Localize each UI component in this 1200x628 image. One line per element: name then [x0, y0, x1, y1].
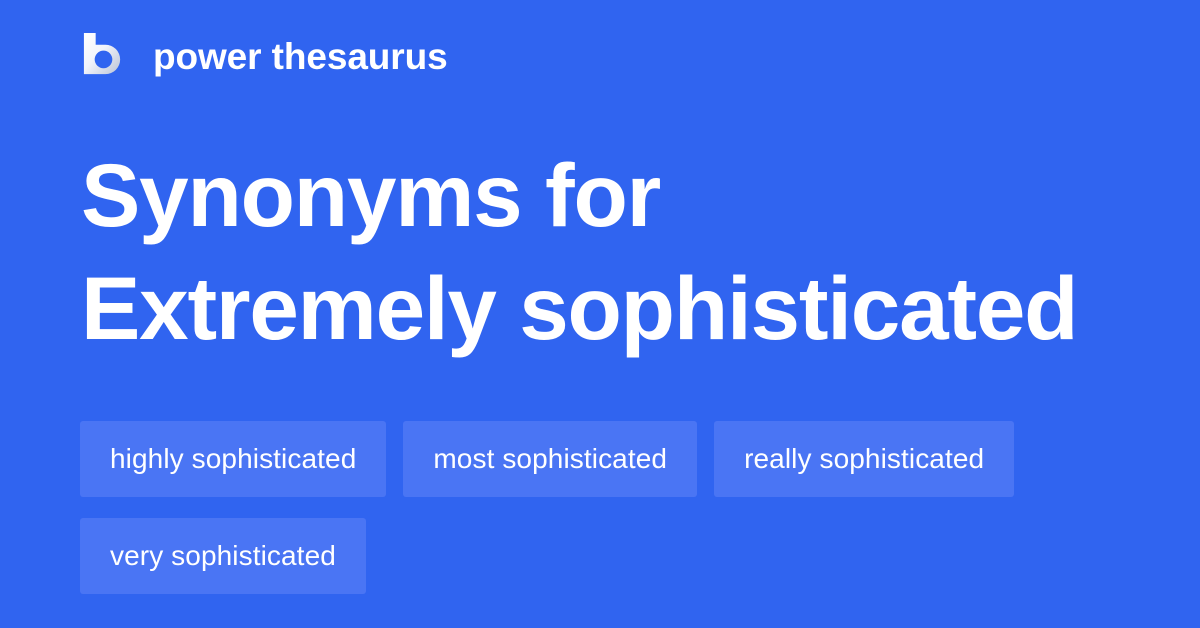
share-card: power thesaurus Synonyms for Extremely s…	[0, 0, 1200, 628]
synonym-chip-list: highly sophisticated most sophisticated …	[80, 421, 1130, 594]
brand-header[interactable]: power thesaurus	[80, 31, 448, 81]
synonym-chip[interactable]: really sophisticated	[714, 421, 1014, 497]
page-title: Synonyms for Extremely sophisticated	[81, 139, 1081, 365]
power-thesaurus-logo-icon	[80, 33, 127, 80]
brand-name: power thesaurus	[153, 38, 448, 75]
synonym-chip[interactable]: very sophisticated	[80, 518, 366, 594]
synonym-chip[interactable]: highly sophisticated	[80, 421, 386, 497]
synonym-chip[interactable]: most sophisticated	[403, 421, 697, 497]
